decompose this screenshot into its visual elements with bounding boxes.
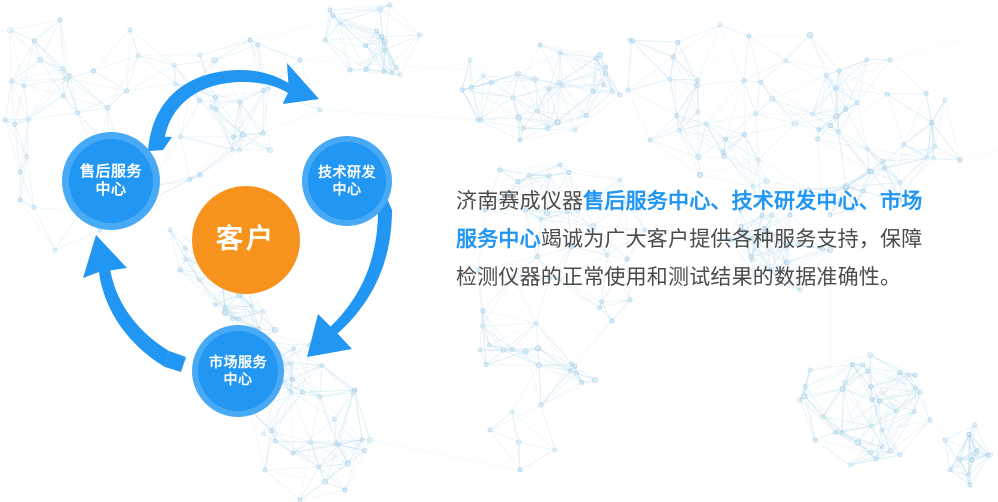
node-aftersales-label: 售后服务 中心 — [80, 163, 142, 198]
node-customer-label: 客户 — [216, 224, 276, 256]
arrow-aftersales-to-rd — [148, 63, 319, 151]
node-aftersales-service-center[interactable]: 售后服务 中心 — [62, 132, 160, 230]
description-paragraph: 济南赛成仪器售后服务中心、技术研发中心、市场服务中心竭诚为广大客户提供各种服务支… — [456, 183, 926, 297]
node-customer-center[interactable]: 客户 — [192, 186, 300, 294]
service-cycle-diagram: 售后服务 中心 技术研发 中心 市场服务 中心 客户 — [0, 0, 440, 502]
node-market-label: 市场服务 中心 — [209, 354, 267, 387]
node-rd-center[interactable]: 技术研发 中心 — [302, 136, 392, 226]
node-rd-label: 技术研发 中心 — [318, 164, 376, 197]
copy-segment-0: 济南赛成仪器 — [456, 190, 583, 213]
node-market-service-center[interactable]: 市场服务 中心 — [192, 325, 284, 417]
arrow-market-to-aftersales — [83, 235, 186, 372]
hero-banner: 售后服务 中心 技术研发 中心 市场服务 中心 客户 济南赛成仪器售后服务中心、… — [0, 0, 998, 502]
